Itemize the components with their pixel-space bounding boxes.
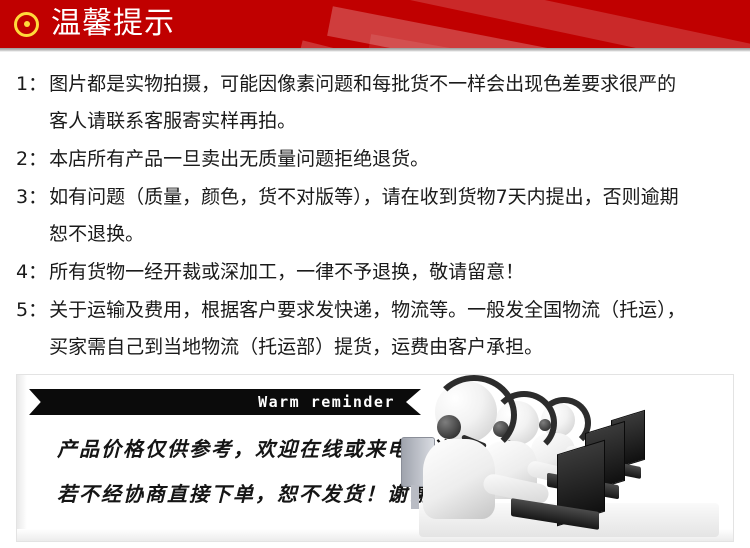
list-item-body: 所有货物一经开裁或深加工，一律不予退换，敬请留意！ [49,254,738,291]
list-item-number: 2： [16,141,49,178]
list-item-number: 1： [16,66,49,103]
panel-edge-shading [17,375,27,542]
list-item-body: 如有问题（质量，颜色，货不对版等），请在收到货物7天内提出，否则逾期 恕不退换。 [49,179,738,253]
list-item: 1： 图片都是实物拍摄，可能因像素问题和每批货不一样会出现色差要求很严的 客人请… [16,66,738,140]
list-item-line: 关于运输及费用，根据客户要求发快递，物流等。一般发全国物流（托运）， [49,292,738,329]
promo-notice-page: 温馨提示 1： 图片都是实物拍摄，可能因像素问题和每批货不一样会出现色差要求很严… [0,0,750,548]
list-item: 3： 如有问题（质量，颜色，货不对版等），请在收到货物7天内提出，否则逾期 恕不… [16,179,738,253]
list-item-line: 买家需自己到当地物流（托运部）提货，运费由客户承担。 [49,329,738,366]
list-item-line: 图片都是实物拍摄，可能因像素问题和每批货不一样会出现色差要求很严的 [49,66,738,103]
ribbon-tail-notch-icon [29,389,38,415]
list-item-line: 恕不退换。 [49,216,738,253]
list-item-line: 所有货物一经开裁或深加工，一律不予退换，敬请留意！ [49,254,738,291]
list-item-body: 本店所有产品一旦卖出无质量问题拒绝退货。 [49,141,738,178]
list-item-line: 如有问题（质量，颜色，货不对版等），请在收到货物7天内提出，否则逾期 [49,179,738,216]
target-dot-icon [14,12,39,37]
warm-reminder-ribbon: Warm reminder [29,389,421,415]
list-item-line: 本店所有产品一旦卖出无质量问题拒绝退货。 [49,141,738,178]
page-title: 温馨提示 [51,8,175,40]
list-item-number: 3： [16,179,49,216]
list-item-body: 图片都是实物拍摄，可能因像素问题和每批货不一样会出现色差要求很严的 客人请联系客… [49,66,738,140]
list-item: 5： 关于运输及费用，根据客户要求发快递，物流等。一般发全国物流（托运）， 买家… [16,292,738,366]
notice-header-banner: 温馨提示 [0,0,750,52]
call-center-operators-illustration [399,375,729,541]
headset-earcup-icon [437,415,461,439]
warm-reminder-label: Warm reminder [258,393,395,411]
promo-image-panel: Warm reminder 产品价格仅供参考，欢迎在线或来电咨询！ 若不经协商直… [16,374,734,542]
terms-list: 1： 图片都是实物拍摄，可能因像素问题和每批货不一样会出现色差要求很严的 客人请… [0,52,750,366]
list-item: 2： 本店所有产品一旦卖出无质量问题拒绝退货。 [16,141,738,178]
list-item-number: 5： [16,292,49,329]
list-item-number: 4： [16,254,49,291]
list-item: 4： 所有货物一经开裁或深加工，一律不予退换，敬请留意！ [16,254,738,291]
list-item-line: 客人请联系客服寄实样再拍。 [49,103,738,140]
monitor-stand [411,485,419,509]
list-item-body: 关于运输及费用，根据客户要求发快递，物流等。一般发全国物流（托运）， 买家需自己… [49,292,738,366]
